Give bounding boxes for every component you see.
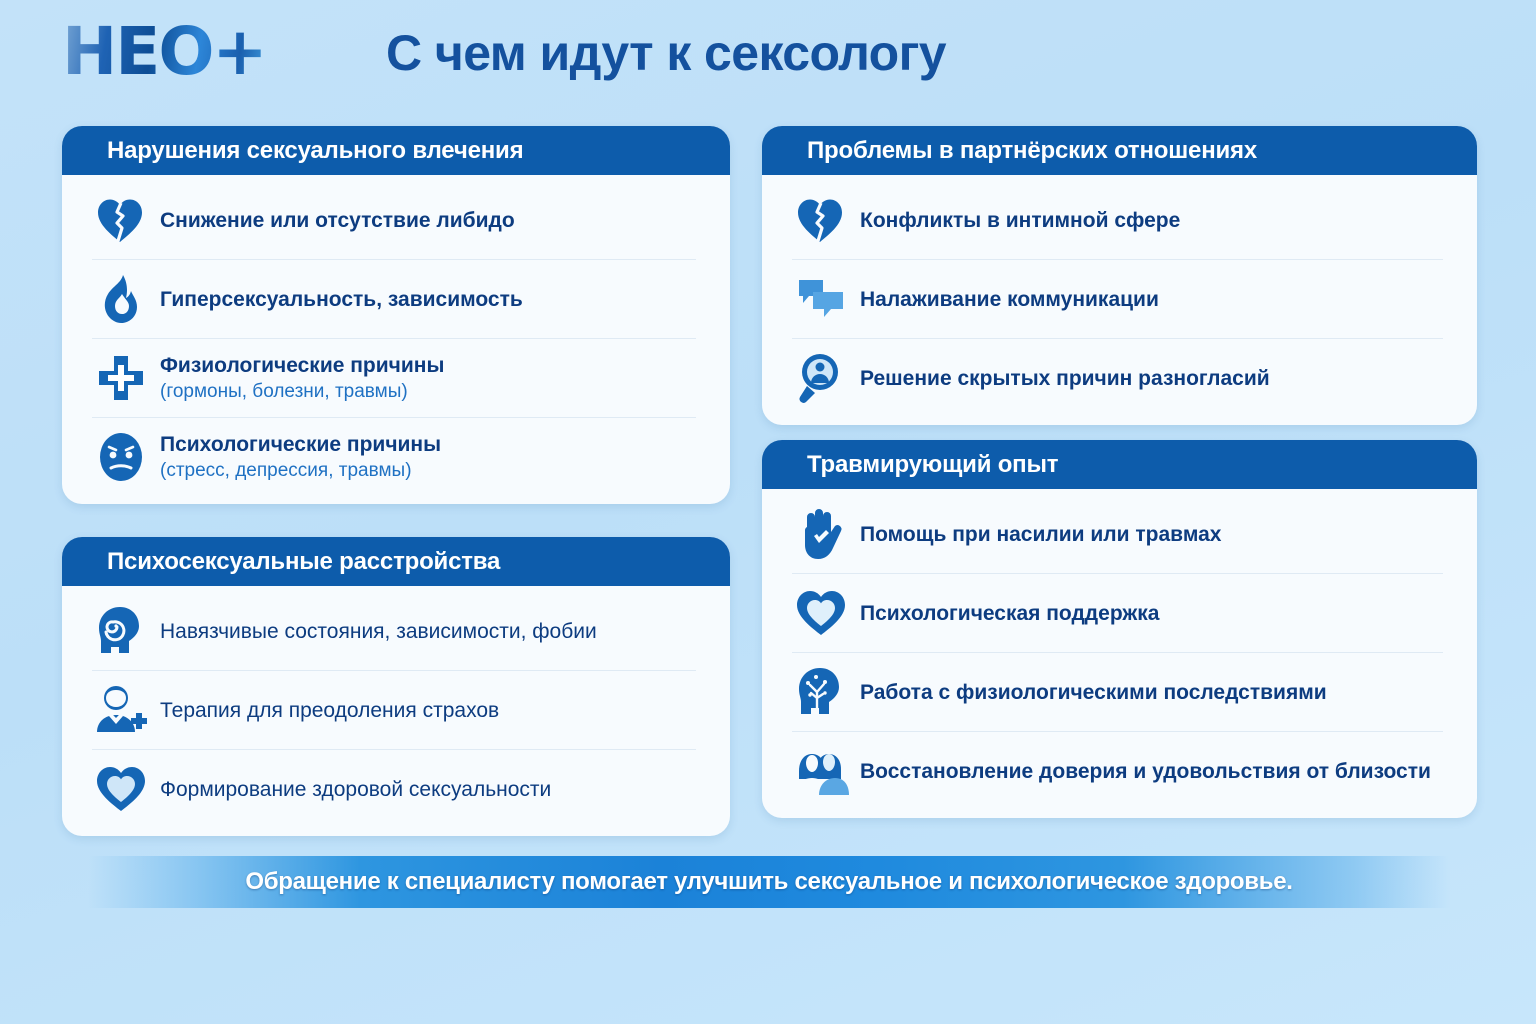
list-item[interactable]: Психологическая поддержка (792, 574, 1443, 653)
card-psychosexual: Психосексуальные расстройства Навязчивые… (62, 537, 730, 836)
list-item-label: Физиологические причины (160, 352, 444, 379)
list-item[interactable]: Снижение или отсутствие либидо (92, 181, 696, 260)
card-title: Нарушения сексуального влечения (107, 137, 523, 165)
hand-stop-icon (792, 505, 850, 563)
card-title: Проблемы в партнёрских отношениях (807, 137, 1257, 165)
card-body: Снижение или отсутствие либидо Гиперсекс… (62, 175, 730, 504)
card-body: Конфликты в интимной сфере Налаживание к… (762, 175, 1477, 425)
list-item[interactable]: Терапия для преодоления страхов (92, 671, 696, 750)
couple-hug-icon (792, 742, 850, 800)
card-header: Травмирующий опыт (762, 440, 1477, 489)
list-item[interactable]: Формирование здоровой сексуальности (92, 750, 696, 828)
footer-text-strong: Обращение (245, 868, 380, 895)
page-header: НЕО+ С чем идут к сексологу (0, 0, 1536, 112)
person-plus-icon (92, 681, 150, 739)
broken-heart-icon (92, 191, 150, 249)
list-item-label: Формирование здоровой сексуальности (160, 776, 551, 803)
list-item[interactable]: Налаживание коммуникации (792, 260, 1443, 339)
heart-icon (92, 760, 150, 818)
list-item-label: Налаживание коммуникации (860, 286, 1159, 313)
card-trauma: Травмирующий опыт Помощь при насилии или… (762, 440, 1477, 818)
speech-bubbles-icon (792, 270, 850, 328)
card-libido: Нарушения сексуального влечения Снижение… (62, 126, 730, 504)
head-tree-icon (792, 663, 850, 721)
brand-logo: НЕО+ (62, 16, 266, 88)
list-item[interactable]: Психологические причины (стресс, депресс… (92, 418, 696, 496)
list-item-label: Навязчивые состояния, зависимости, фобии (160, 618, 597, 645)
medical-cross-icon (92, 349, 150, 407)
broken-heart-icon (792, 191, 850, 249)
page-title: С чем идут к сексологу (386, 22, 946, 84)
list-item-sublabel: (гормоны, болезни, травмы) (160, 379, 444, 404)
list-item[interactable]: Навязчивые состояния, зависимости, фобии (92, 592, 696, 671)
list-item[interactable]: Физиологические причины (гормоны, болезн… (92, 339, 696, 418)
head-spiral-icon (92, 602, 150, 660)
sad-face-icon (92, 428, 150, 486)
list-item-label: Психологические причины (160, 431, 441, 458)
list-item-label: Восстановление доверия и удовольствия от… (860, 758, 1431, 785)
list-item[interactable]: Конфликты в интимной сфере (792, 181, 1443, 260)
magnifier-person-icon (792, 349, 850, 407)
card-header: Психосексуальные расстройства (62, 537, 730, 586)
list-item-label: Решение скрытых причин разногласий (860, 365, 1270, 392)
card-title: Травмирующий опыт (807, 451, 1058, 479)
list-item-sublabel: (стресс, депрессия, травмы) (160, 458, 441, 483)
list-item-label: Снижение или отсутствие либидо (160, 207, 515, 234)
flame-icon (92, 270, 150, 328)
footer-banner: Обращение к специалисту помогает улучшит… (88, 856, 1450, 908)
heart-icon (792, 584, 850, 642)
list-item-label: Терапия для преодоления страхов (160, 697, 499, 724)
list-item[interactable]: Гиперсексуальность, зависимость (92, 260, 696, 339)
list-item-label: Работа с физиологическими последствиями (860, 679, 1327, 706)
card-header: Проблемы в партнёрских отношениях (762, 126, 1477, 175)
footer-text-strong-2: сексуальное и психологическое здоровье. (795, 868, 1293, 895)
card-body: Навязчивые состояния, зависимости, фобии… (62, 586, 730, 836)
card-partner: Проблемы в партнёрских отношениях Конфли… (762, 126, 1477, 425)
footer-text-rest: к специалисту помогает улучшить (380, 868, 794, 895)
list-item[interactable]: Работа с физиологическими последствиями (792, 653, 1443, 732)
list-item-label: Гиперсексуальность, зависимость (160, 286, 523, 313)
card-title: Психосексуальные расстройства (107, 548, 500, 576)
list-item[interactable]: Помощь при насилии или травмах (792, 495, 1443, 574)
list-item[interactable]: Восстановление доверия и удовольствия от… (792, 732, 1443, 810)
list-item[interactable]: Решение скрытых причин разногласий (792, 339, 1443, 417)
card-body: Помощь при насилии или травмах Психологи… (762, 489, 1477, 818)
card-header: Нарушения сексуального влечения (62, 126, 730, 175)
list-item-label: Психологическая поддержка (860, 600, 1159, 627)
list-item-label: Конфликты в интимной сфере (860, 207, 1180, 234)
footer-text: Обращение к специалисту помогает улучшит… (245, 868, 1292, 896)
list-item-label: Помощь при насилии или травмах (860, 521, 1221, 548)
